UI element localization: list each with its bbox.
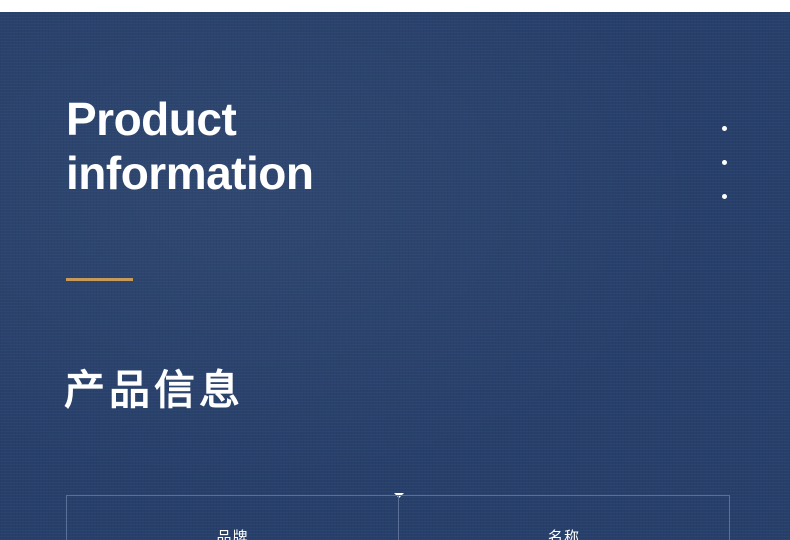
dot-decoration	[720, 122, 736, 212]
gold-divider	[66, 278, 133, 281]
table-header-name: 名称	[398, 496, 729, 540]
product-info-table: 品牌 名称	[66, 495, 730, 540]
product-information-panel: Product information 产品信息 品牌 名称	[0, 12, 790, 540]
top-white-strip	[0, 0, 790, 12]
page-title-chinese: 产品信息	[64, 364, 244, 416]
dot-icon	[722, 194, 727, 199]
slide-page: Product information 产品信息 品牌 名称	[0, 0, 790, 540]
table-header-brand: 品牌	[67, 496, 398, 540]
page-title-english: Product information	[66, 92, 496, 200]
page-title-english-line2: information	[66, 146, 496, 200]
dot-icon	[722, 126, 727, 131]
dot-icon	[722, 160, 727, 165]
page-title-english-line1: Product	[66, 93, 236, 145]
